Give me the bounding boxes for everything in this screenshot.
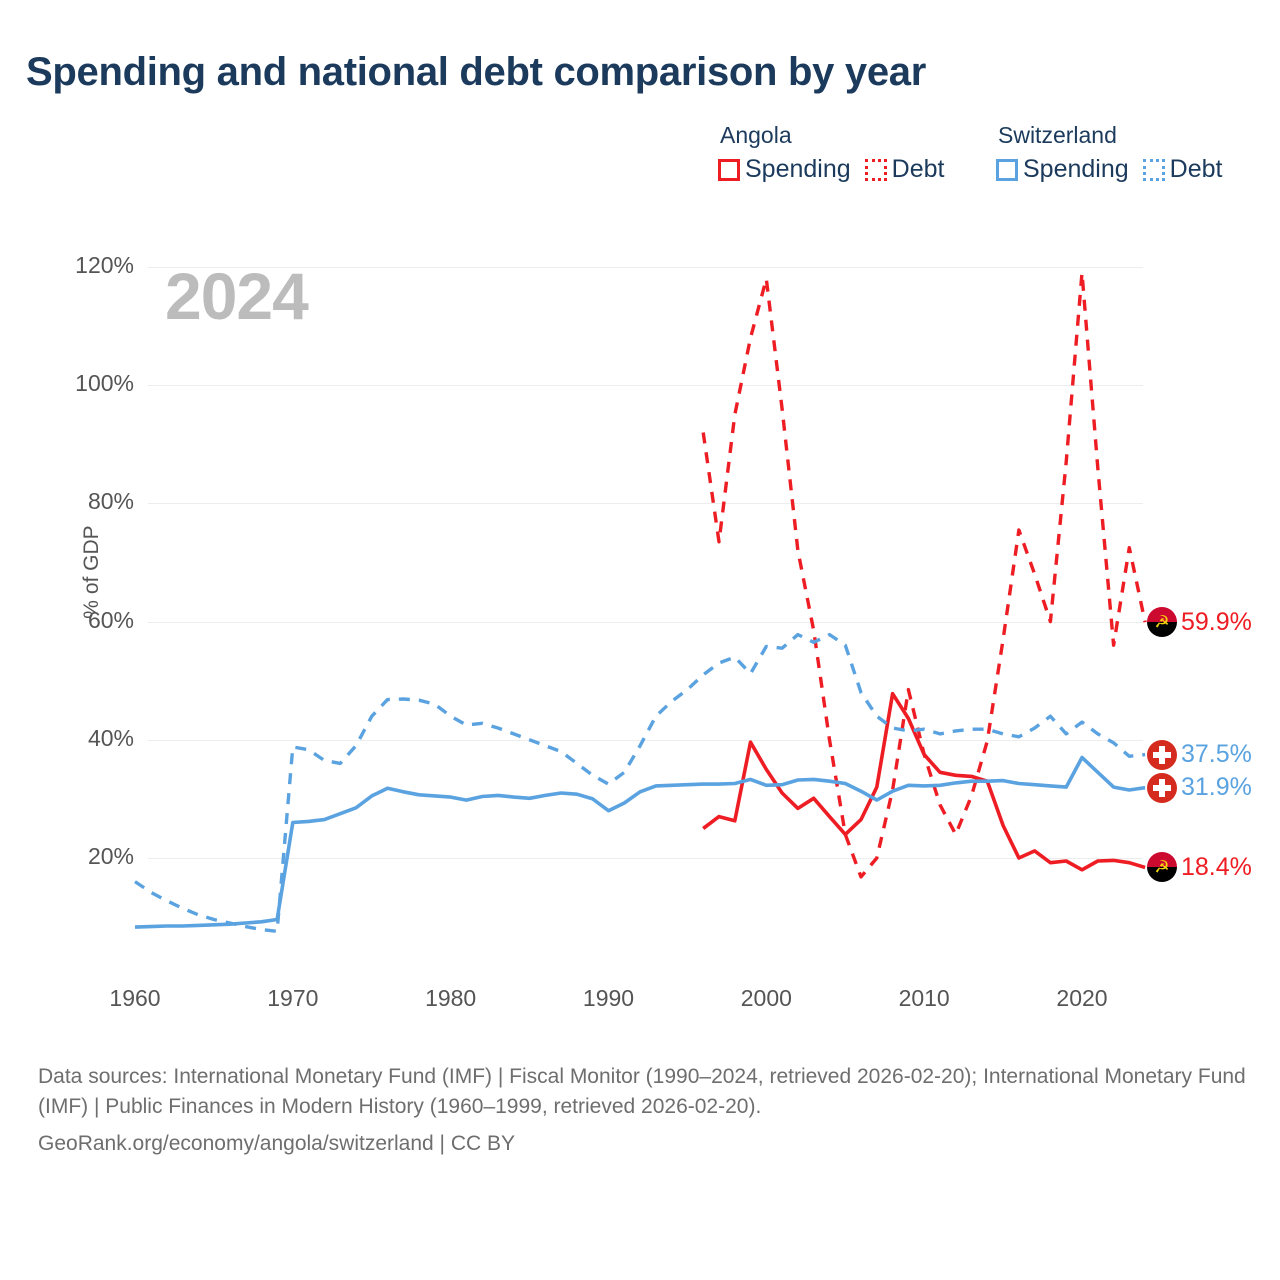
end-label-switzerland-spending: 31.9% — [1147, 773, 1252, 803]
end-label-angola-spending: ☭18.4% — [1147, 852, 1252, 882]
footer: Data sources: International Monetary Fun… — [38, 1062, 1248, 1159]
end-label-value: 37.5% — [1181, 740, 1252, 769]
end-label-value: 18.4% — [1181, 853, 1252, 882]
angola-flag-emblem-icon: ☭ — [1154, 614, 1169, 631]
data-sources-text: Data sources: International Monetary Fun… — [38, 1062, 1248, 1123]
swiss-cross-horizontal — [1153, 785, 1171, 791]
end-label-value: 59.9% — [1181, 608, 1252, 637]
chart-container: Spending and national debt comparison by… — [0, 0, 1280, 1280]
swiss-cross-horizontal — [1153, 752, 1171, 758]
series-line-switzerland-spending — [135, 758, 1145, 928]
angola-flag-icon: ☭ — [1147, 852, 1177, 882]
series-line-angola-spending — [703, 694, 1145, 870]
angola-flag-emblem-icon: ☭ — [1154, 859, 1169, 876]
end-label-value: 31.9% — [1181, 773, 1252, 802]
attribution-text: GeoRank.org/economy/angola/switzerland |… — [38, 1129, 1248, 1159]
angola-flag-icon: ☭ — [1147, 607, 1177, 637]
end-label-angola-debt: ☭59.9% — [1147, 607, 1252, 637]
switzerland-flag-icon — [1147, 740, 1177, 770]
end-label-switzerland-debt: 37.5% — [1147, 740, 1252, 770]
series-line-switzerland-debt — [135, 635, 1145, 932]
switzerland-flag-icon — [1147, 773, 1177, 803]
